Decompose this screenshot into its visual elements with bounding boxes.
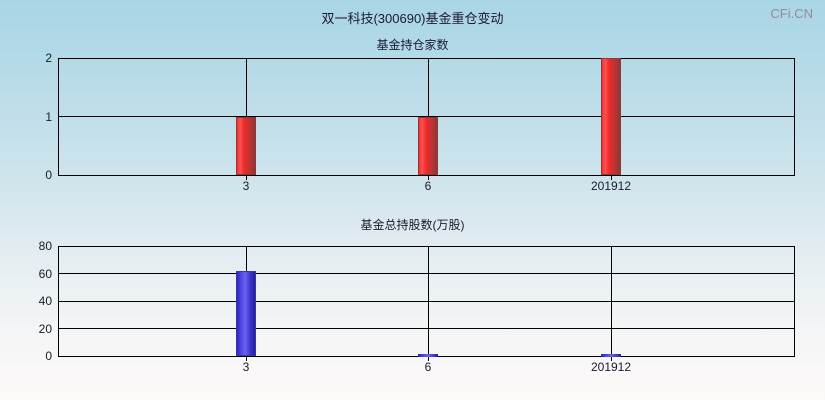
bar-6 bbox=[418, 354, 438, 357]
gridline-horizontal bbox=[58, 301, 795, 302]
plot-frame-chart2 bbox=[58, 246, 795, 356]
page-title: 双一科技(300690)基金重仓变动 bbox=[0, 8, 825, 27]
bar-201912 bbox=[601, 58, 621, 175]
bar-6 bbox=[418, 117, 438, 176]
gridline-horizontal bbox=[58, 273, 795, 274]
x-axis-tick-label: 201912 bbox=[591, 360, 631, 374]
watermark-label: CFi.CN bbox=[770, 6, 813, 21]
x-axis-tick-label: 6 bbox=[425, 179, 432, 193]
gridline-vertical bbox=[428, 246, 429, 356]
subplot-title-total-shares: 基金总持股数(万股) bbox=[0, 216, 825, 233]
y-axis-tick-label: 20 bbox=[39, 322, 52, 336]
y-axis-tick-label: 40 bbox=[39, 294, 52, 308]
y-axis-tick-label: 80 bbox=[39, 239, 52, 253]
gridline-horizontal bbox=[58, 58, 795, 59]
x-axis-tick-label: 6 bbox=[425, 360, 432, 374]
y-axis-labels-chart2: 020406080 bbox=[0, 246, 52, 356]
x-axis-tick-label: 3 bbox=[243, 179, 250, 193]
plot-frame-chart1 bbox=[58, 58, 795, 175]
plot-area-total-shares bbox=[58, 246, 795, 356]
y-axis-tick-label: 60 bbox=[39, 267, 52, 281]
y-axis-labels-chart1: 012 bbox=[0, 58, 52, 175]
x-axis-tick-label: 201912 bbox=[591, 179, 631, 193]
x-axis-tick-label: 3 bbox=[243, 360, 250, 374]
plot-area-fund-holders bbox=[58, 58, 795, 175]
bar-201912 bbox=[601, 354, 621, 357]
gridline-horizontal bbox=[58, 246, 795, 247]
gridline-vertical bbox=[611, 246, 612, 356]
y-axis-tick-label: 2 bbox=[45, 51, 52, 65]
gridline-horizontal bbox=[58, 328, 795, 329]
y-axis-tick-label: 1 bbox=[45, 110, 52, 124]
bar-3 bbox=[236, 117, 256, 176]
chart-canvas: 双一科技(300690)基金重仓变动 CFi.CN 基金持仓家数 基金总持股数(… bbox=[0, 0, 825, 400]
x-axis-labels-chart2: 36201912 bbox=[0, 360, 825, 378]
subplot-title-fund-holders: 基金持仓家数 bbox=[0, 36, 825, 53]
x-axis-labels-chart1: 36201912 bbox=[0, 179, 825, 197]
bar-3 bbox=[236, 271, 256, 356]
